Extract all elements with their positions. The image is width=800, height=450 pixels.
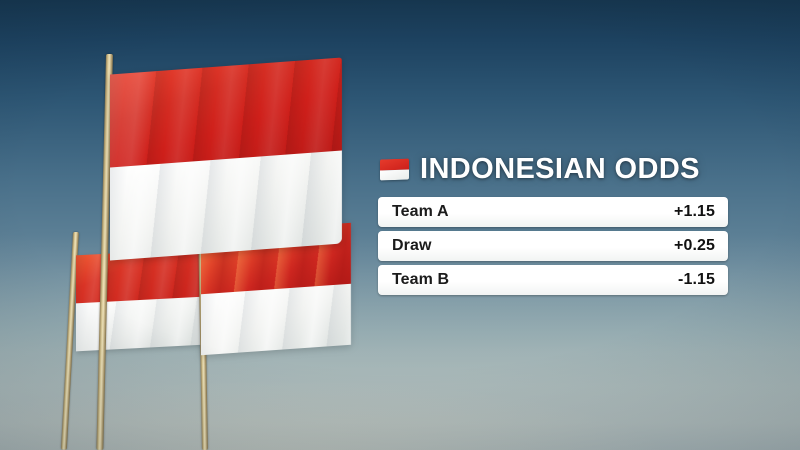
odds-value: +0.25 <box>674 237 715 255</box>
odds-value: +1.15 <box>674 203 715 221</box>
odds-label: Draw <box>392 237 432 255</box>
odds-panel: INDONESIAN ODDS Team A +1.15 Draw +0.25 … <box>378 155 728 295</box>
odds-row-team-a[interactable]: Team A +1.15 <box>378 197 728 227</box>
odds-label: Team A <box>392 203 449 221</box>
odds-label: Team B <box>392 271 449 289</box>
odds-row-draw[interactable]: Draw +0.25 <box>378 231 728 261</box>
page-title: INDONESIAN ODDS <box>420 155 700 184</box>
odds-graphic: INDONESIAN ODDS Team A +1.15 Draw +0.25 … <box>0 0 800 450</box>
flag-icon-white-band <box>380 169 409 181</box>
odds-value: -1.15 <box>678 271 715 289</box>
odds-row-team-b[interactable]: Team B -1.15 <box>378 265 728 295</box>
odds-title-row: INDONESIAN ODDS <box>378 155 728 184</box>
indonesia-flag-icon <box>380 158 409 180</box>
